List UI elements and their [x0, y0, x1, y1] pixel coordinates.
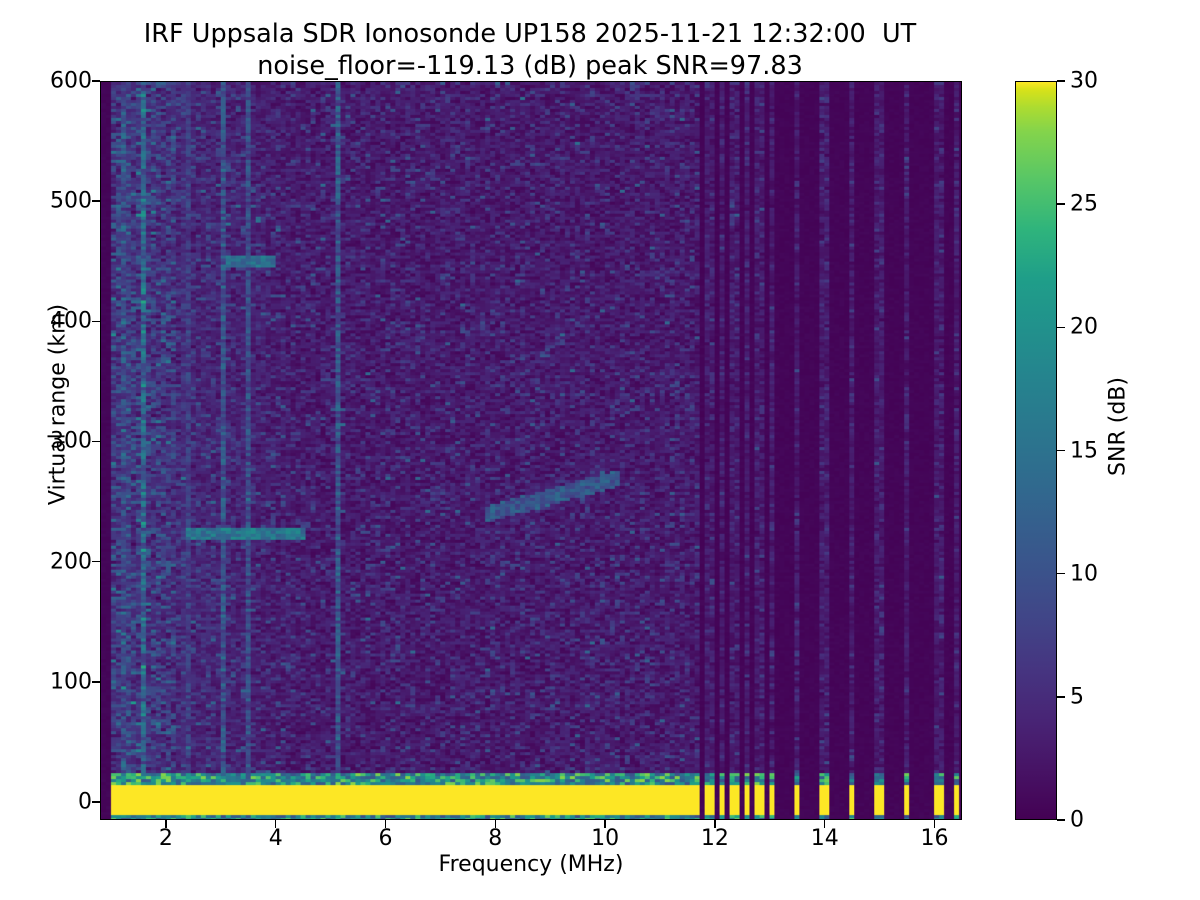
x-tick-mark — [495, 820, 497, 828]
y-axis-label: Virtual range (km) — [46, 95, 71, 715]
colorbar-tick-label: 10 — [1070, 561, 1098, 586]
x-tick-label: 4 — [269, 826, 283, 851]
y-tick-mark — [92, 441, 100, 443]
y-tick-mark — [92, 561, 100, 563]
colorbar-tick-label: 20 — [1070, 315, 1098, 340]
y-tick-label: 500 — [0, 189, 92, 214]
colorbar-tick-mark — [1057, 450, 1065, 452]
y-tick-label: 400 — [0, 309, 92, 334]
y-tick-mark — [92, 80, 100, 82]
x-tick-mark — [934, 820, 936, 828]
colorbar-tick-mark — [1057, 327, 1065, 329]
x-tick-label: 10 — [591, 826, 619, 851]
x-tick-label: 6 — [379, 826, 393, 851]
y-tick-mark — [92, 801, 100, 803]
colorbar-tick-mark — [1057, 696, 1065, 698]
x-tick-mark — [165, 820, 167, 828]
colorbar-label: SNR (dB) — [1106, 217, 1131, 637]
y-tick-label: 600 — [0, 69, 92, 94]
y-tick-label: 0 — [0, 789, 92, 814]
x-axis-label: Frequency (MHz) — [100, 852, 962, 877]
y-tick-mark — [92, 321, 100, 323]
colorbar-tick-label: 25 — [1070, 192, 1098, 217]
colorbar-tick-mark — [1057, 203, 1065, 205]
x-tick-label: 8 — [488, 826, 502, 851]
x-tick-label: 16 — [921, 826, 949, 851]
colorbar-tick-label: 5 — [1070, 684, 1084, 709]
colorbar-tick-mark — [1057, 573, 1065, 575]
y-tick-label: 300 — [0, 429, 92, 454]
ionogram-figure: IRF Uppsala SDR Ionosonde UP158 2025-11-… — [0, 0, 1200, 900]
figure-title: IRF Uppsala SDR Ionosonde UP158 2025-11-… — [0, 18, 1060, 82]
colorbar-tick-mark — [1057, 80, 1065, 82]
x-tick-mark — [275, 820, 277, 828]
x-tick-mark — [385, 820, 387, 828]
x-tick-label: 14 — [811, 826, 839, 851]
x-tick-label: 12 — [701, 826, 729, 851]
y-tick-label: 200 — [0, 549, 92, 574]
title-line-1: IRF Uppsala SDR Ionosonde UP158 2025-11-… — [0, 18, 1060, 50]
x-tick-mark — [714, 820, 716, 828]
colorbar-tick-mark — [1057, 819, 1065, 821]
y-tick-label: 100 — [0, 669, 92, 694]
colorbar-tick-label: 15 — [1070, 438, 1098, 463]
x-tick-mark — [824, 820, 826, 828]
x-tick-label: 2 — [159, 826, 173, 851]
x-tick-mark — [604, 820, 606, 828]
y-tick-mark — [92, 200, 100, 202]
ionogram-heatmap — [101, 82, 961, 819]
ionogram-plot-area — [100, 81, 962, 820]
title-line-2: noise_floor=-119.13 (dB) peak SNR=97.83 — [0, 50, 1060, 82]
colorbar-tick-label: 0 — [1070, 808, 1084, 833]
snr-colorbar — [1015, 81, 1057, 820]
y-tick-mark — [92, 681, 100, 683]
colorbar-tick-label: 30 — [1070, 69, 1098, 94]
